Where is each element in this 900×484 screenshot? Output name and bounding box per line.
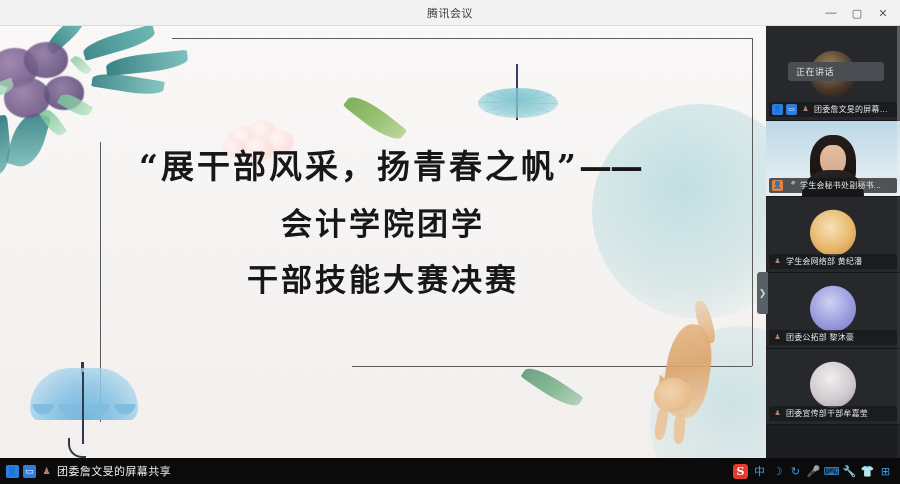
tencent-meeting-window: 腾讯会议 — ▢ ✕ — [0, 0, 900, 484]
ginger-cat-icon — [648, 302, 734, 452]
host-icon: 👤 — [772, 104, 783, 115]
participant-name: 团委公拓部 黎沐豪 — [786, 332, 854, 343]
green-leaf-lower-icon — [520, 378, 592, 438]
window-title: 腾讯会议 — [427, 5, 473, 21]
avatar — [810, 361, 856, 407]
blue-umbrella-icon — [28, 364, 140, 458]
participant-name: 学生会秘书处副秘书... — [800, 180, 881, 191]
person-icon: ♟ — [40, 465, 53, 478]
sogou-logo-icon[interactable]: S — [733, 464, 748, 479]
participant-tile[interactable]: ♟ 学生会网络部 黄纪潘 — [766, 197, 900, 273]
person-icon: ♟ — [772, 408, 783, 419]
teal-circle-watermark-lower — [650, 326, 766, 458]
avatar — [810, 209, 856, 255]
participant-label: ♟ 学生会网络部 黄纪潘 — [769, 254, 897, 269]
mic-icon: 🎤 — [786, 180, 797, 191]
participant-label: 👤 🎤 学生会秘书处副秘书... — [769, 178, 897, 193]
participant-name: 团委詹文旻的屏幕共... — [814, 104, 894, 115]
window-controls: — ▢ ✕ — [818, 0, 896, 26]
meeting-stage: “展干部风采，扬青春之帆”—— 会计学院团学 干部技能大赛决赛 ❯ 正在讲话 👤 — [0, 26, 900, 458]
ime-keyboard-icon[interactable]: ⌨ — [825, 465, 838, 478]
ime-menu-icon[interactable]: ⊞ — [879, 465, 892, 478]
person-icon: ♟ — [772, 332, 783, 343]
minimize-button[interactable]: — — [818, 2, 844, 24]
person-icon: ♟ — [772, 256, 783, 267]
ime-toolbar[interactable]: S 中 ☽ ↻ 🎤 ⌨ 🔧 👕 ⊞ — [729, 460, 896, 482]
participant-rail[interactable]: 正在讲话 👤 ▭ ♟ 团委詹文旻的屏幕共... — [766, 26, 900, 458]
ime-skin-icon[interactable]: 👕 — [861, 465, 874, 478]
collapse-sidebar-handle[interactable]: ❯ — [757, 272, 768, 314]
ime-voice-icon[interactable]: 🎤 — [807, 465, 820, 478]
ime-toolbox-icon[interactable]: 🔧 — [843, 465, 856, 478]
participant-label: 👤 ▭ ♟ 团委詹文旻的屏幕共... — [769, 102, 897, 117]
frame-rule-bottom — [352, 366, 752, 367]
participant-label: ♟ 团委公拓部 黎沐豪 — [769, 330, 897, 345]
share-status-text: 团委詹文旻的屏幕共享 — [57, 463, 171, 479]
frame-rule-top — [172, 38, 752, 39]
slide-title-line-3: 干部技能大赛决赛 — [0, 259, 766, 303]
avatar — [810, 285, 856, 331]
speaking-badge-label: 正在讲话 — [796, 65, 834, 78]
slide-title-line-1-text: “展干部风采，扬青春之帆” — [139, 147, 579, 186]
chevron-right-icon: ❯ — [759, 288, 767, 299]
participant-tile[interactable]: ♟ 团委宣传部干部牟嘉莹 — [766, 349, 900, 425]
participant-tile[interactable]: ♟ 团委公拓部 黎沐豪 — [766, 273, 900, 349]
participant-name: 学生会网络部 黄纪潘 — [786, 256, 862, 267]
shared-screen-slide[interactable]: “展干部风采，扬青春之帆”—— 会计学院团学 干部技能大赛决赛 — [0, 26, 766, 458]
ime-refresh-icon[interactable]: ↻ — [789, 465, 802, 478]
participant-label: ♟ 团委宣传部干部牟嘉莹 — [769, 406, 897, 421]
slide-title-line-1: “展干部风采，扬青春之帆”—— — [0, 144, 766, 191]
close-button[interactable]: ✕ — [870, 2, 896, 24]
participant-name: 团委宣传部干部牟嘉莹 — [786, 408, 868, 419]
participant-tile[interactable]: 👤 🎤 学生会秘书处副秘书... — [766, 121, 900, 197]
slide-title-dash: —— — [579, 147, 641, 186]
person-icon: ♟ — [800, 104, 811, 115]
slide-title-block: “展干部风采，扬青春之帆”—— 会计学院团学 干部技能大赛决赛 — [0, 144, 766, 303]
screen-share-icon: ▭ — [23, 465, 36, 478]
ime-language-icon[interactable]: 中 — [753, 463, 766, 479]
slide-title-line-2: 会计学院团学 — [0, 203, 766, 247]
teal-umbrella-icon — [478, 82, 558, 118]
ime-moon-icon[interactable]: ☽ — [771, 465, 784, 478]
speaking-badge: 正在讲话 — [788, 62, 884, 81]
screen-share-icon: ▭ — [786, 104, 797, 115]
host-icon: 👤 — [6, 465, 19, 478]
window-titlebar: 腾讯会议 — ▢ ✕ — [0, 0, 900, 26]
mic-on-icon: 👤 — [772, 180, 783, 191]
maximize-button[interactable]: ▢ — [844, 2, 870, 24]
